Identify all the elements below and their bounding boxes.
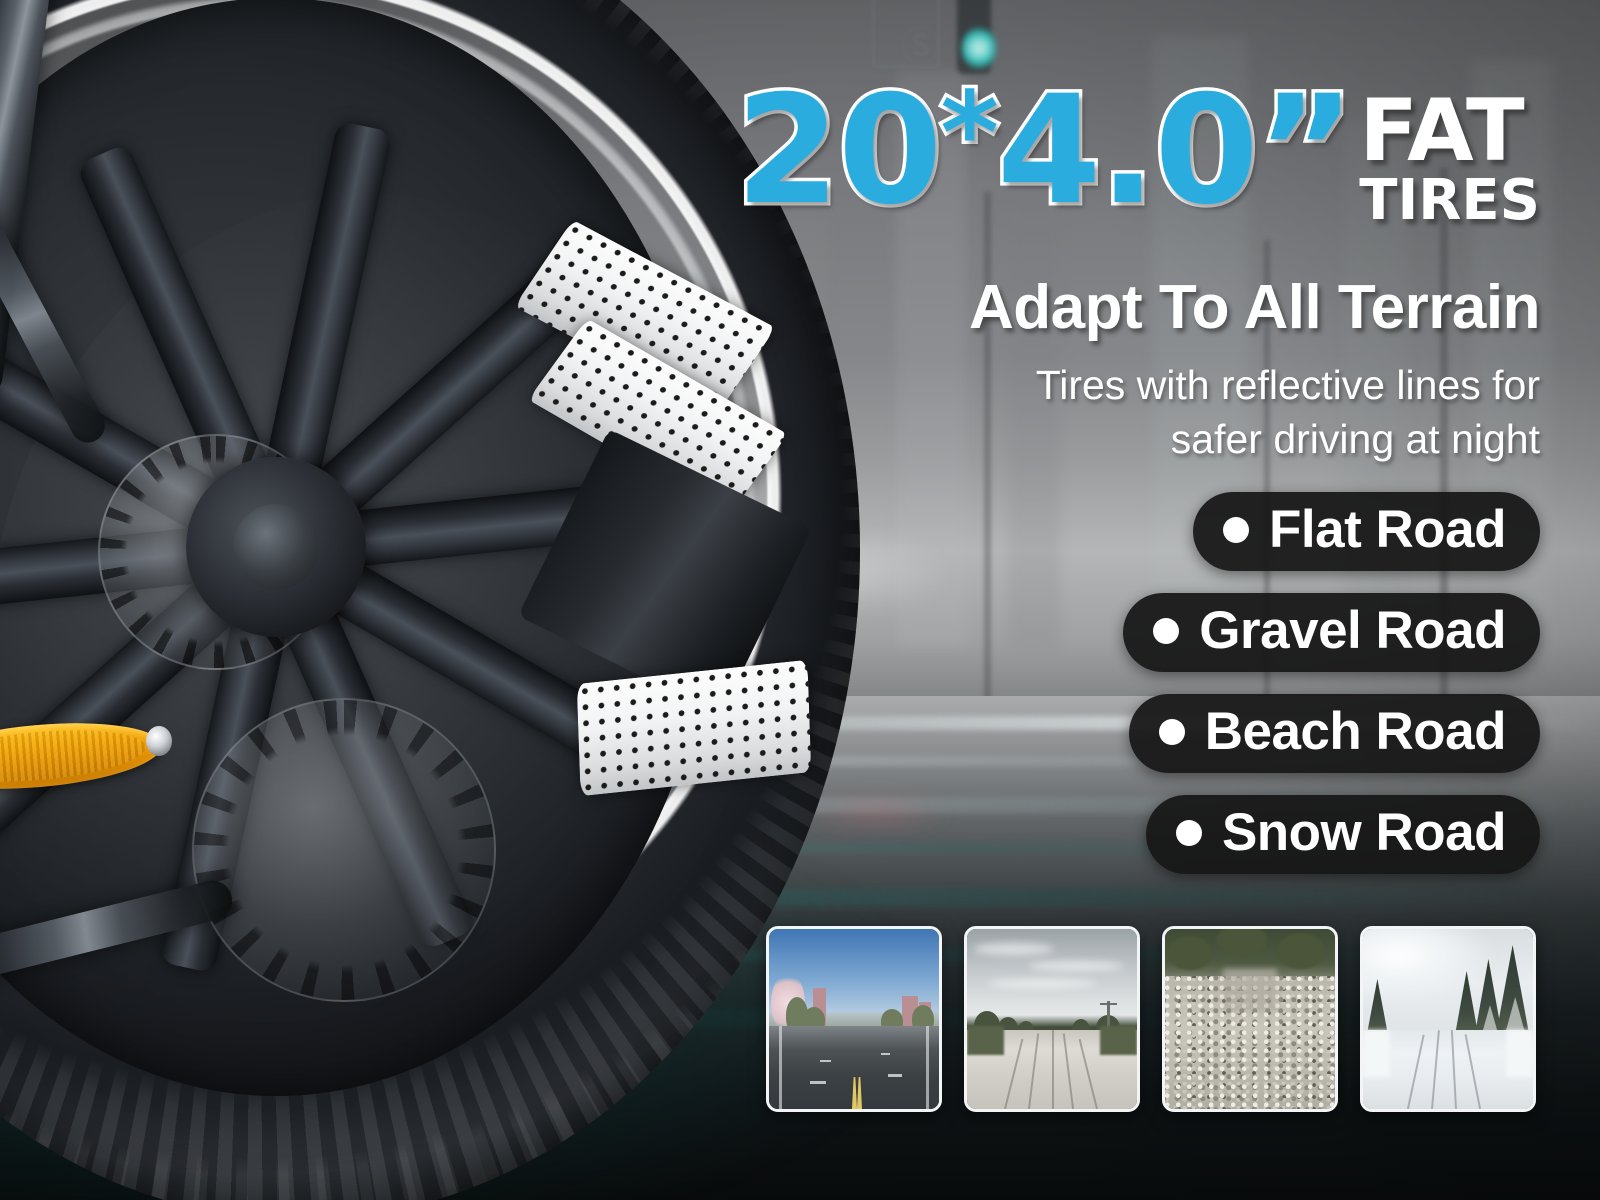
headline-inch-symbol: ” (1257, 78, 1354, 225)
headline-multiply-symbol: * (940, 78, 997, 190)
subheading: Adapt To All Terrain (640, 272, 1540, 343)
supporting-copy-line-1: Tires with reflective lines for (700, 358, 1540, 412)
headline-word-fat: FAT (1359, 94, 1523, 170)
terrain-list: Flat Road Gravel Road Beach Road Snow Ro… (1040, 492, 1540, 874)
terrain-label: Beach Road (1205, 705, 1506, 759)
thumbnail-rocky-gravel-path[interactable] (1162, 926, 1338, 1112)
terrain-label: Gravel Road (1199, 604, 1506, 658)
thumbnail-gravel-dirt-road[interactable] (964, 926, 1140, 1112)
headline-word-group: FAT TIRES (1359, 94, 1540, 231)
thumbnail-flat-paved-highway[interactable] (766, 926, 942, 1112)
disc-brake-rotor (192, 698, 496, 1002)
headline: 20 * 4.0 ” FAT TIRES (660, 78, 1540, 258)
wheel-hub (186, 457, 366, 637)
supporting-copy: Tires with reflective lines for safer dr… (700, 358, 1540, 466)
bullet-dot-icon (1176, 820, 1202, 846)
bullet-dot-icon (1159, 719, 1185, 745)
product-marketing-banner: Ⓢ (0, 0, 1600, 1200)
terrain-label: Snow Road (1222, 806, 1506, 860)
supporting-copy-line-2: safer driving at night (700, 412, 1540, 466)
bullet-dot-icon (1153, 618, 1179, 644)
terrain-pill-gravel-road[interactable]: Gravel Road (1123, 593, 1540, 672)
headline-word-tires: TIRES (1359, 170, 1540, 232)
hub-cap (233, 504, 319, 590)
terrain-pill-flat-road[interactable]: Flat Road (1193, 492, 1540, 571)
reflector-clip (146, 726, 172, 756)
terrain-thumbnail-strip (766, 926, 1536, 1112)
headline-size-value: 20 (736, 78, 941, 225)
headline-width-value: 4.0 (997, 78, 1257, 225)
terrain-label: Flat Road (1269, 503, 1506, 557)
bullet-dot-icon (1223, 517, 1249, 543)
terrain-pill-snow-road[interactable]: Snow Road (1146, 795, 1540, 874)
terrain-pill-beach-road[interactable]: Beach Road (1129, 694, 1540, 773)
thumbnail-snow-forest-road[interactable] (1360, 926, 1536, 1112)
